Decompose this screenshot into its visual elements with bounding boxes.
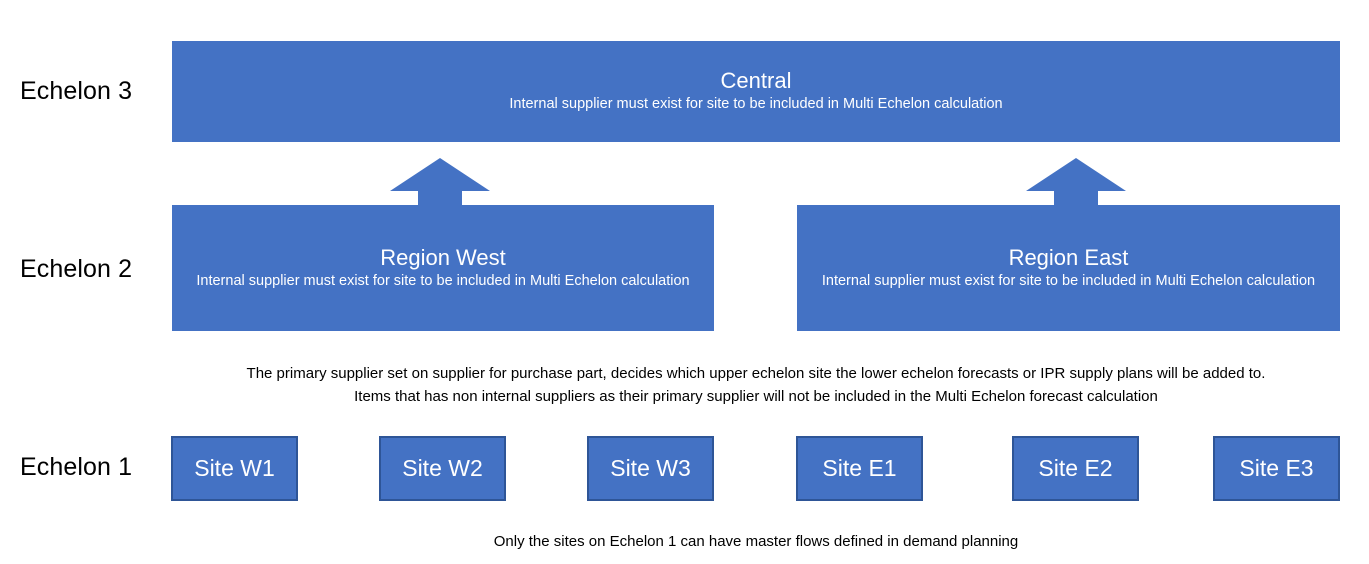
bottom-note: Only the sites on Echelon 1 can have mas… [172,531,1340,552]
node-region-east-title: Region East [1009,245,1129,270]
echelon-3-label: Echelon 3 [20,78,132,106]
arrow-up-icon-west [390,158,490,206]
site-box-w2[interactable]: Site W2 [379,436,506,501]
arrow-up-icon-east [1026,158,1126,206]
node-central-subtitle: Internal supplier must exist for site to… [509,95,1002,115]
site-box-label: Site W1 [194,457,275,480]
node-region-east-subtitle: Internal supplier must exist for site to… [822,272,1315,292]
site-box-e3[interactable]: Site E3 [1213,436,1340,501]
site-box-label: Site W2 [402,457,483,480]
node-central-title: Central [721,68,792,93]
site-box-label: Site E1 [822,457,896,480]
node-region-west-subtitle: Internal supplier must exist for site to… [196,272,689,292]
node-central[interactable]: Central Internal supplier must exist for… [172,41,1340,142]
middle-note-line-2: Items that has non internal suppliers as… [172,386,1340,409]
middle-note-line-1: The primary supplier set on supplier for… [172,363,1340,386]
site-box-w1[interactable]: Site W1 [171,436,298,501]
node-region-east[interactable]: Region East Internal supplier must exist… [797,205,1340,331]
node-region-west[interactable]: Region West Internal supplier must exist… [172,205,714,331]
site-box-label: Site E2 [1038,457,1112,480]
site-box-w3[interactable]: Site W3 [587,436,714,501]
node-region-west-title: Region West [380,245,506,270]
site-box-label: Site W3 [610,457,691,480]
echelon-diagram-canvas: Echelon 3 Echelon 2 Echelon 1 Central In… [0,0,1369,564]
echelon-1-label: Echelon 1 [20,454,132,482]
site-box-e2[interactable]: Site E2 [1012,436,1139,501]
site-box-e1[interactable]: Site E1 [796,436,923,501]
middle-note: The primary supplier set on supplier for… [172,363,1340,408]
site-box-label: Site E3 [1239,457,1313,480]
echelon-2-label: Echelon 2 [20,256,132,284]
